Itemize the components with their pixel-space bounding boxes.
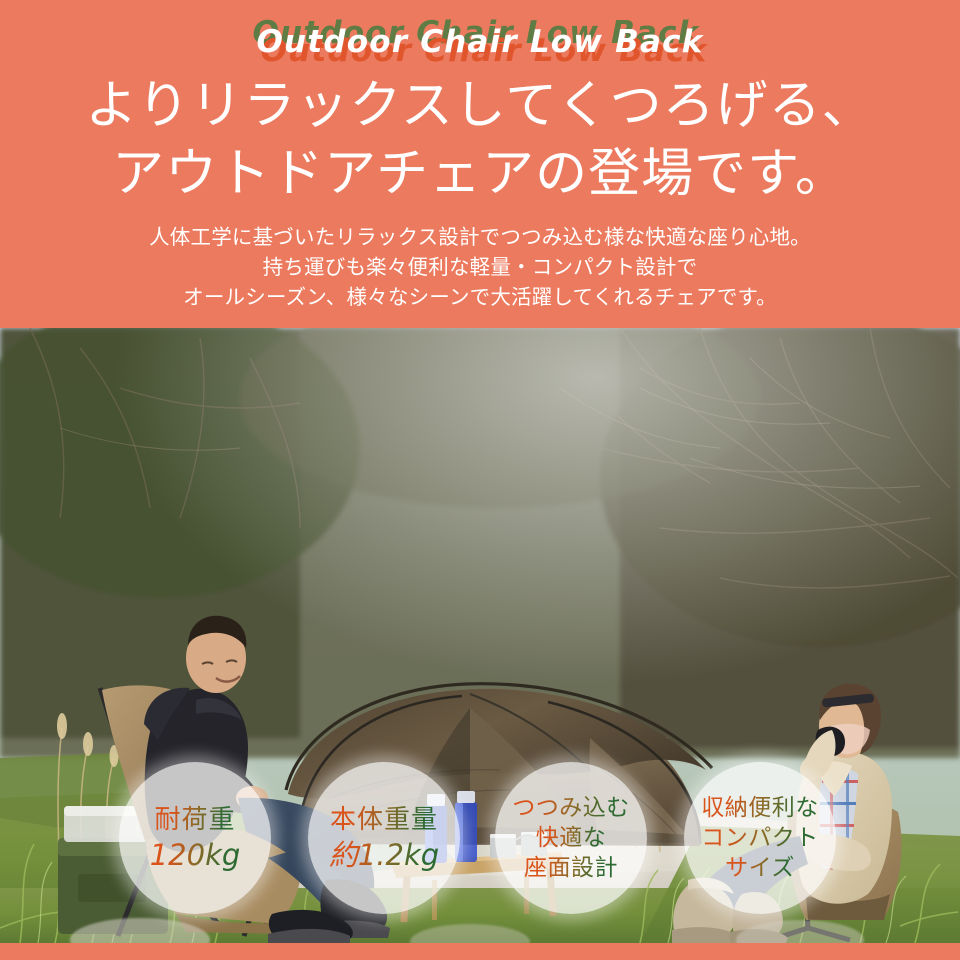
english-title-text: Outdoor Chair Low Back: [0, 22, 960, 62]
feature-line: 約1.2kg: [329, 837, 439, 873]
japanese-headline: よりリラックスしてくつろげる、 アウトドアチェアの登場です。: [0, 72, 960, 208]
feature-line: コンパクト: [701, 823, 819, 853]
header-banner: Outdoor Chair Low Back Outdoor Chair Low…: [0, 0, 960, 328]
headline-line-2: アウトドアチェアの登場です。: [0, 140, 960, 208]
headline-line-1: よりリラックスしてくつろげる、: [0, 72, 960, 140]
feature-load-capacity[interactable]: 耐荷重 120kg: [119, 762, 271, 914]
feature-line: サイズ: [725, 853, 795, 883]
feature-comfortable-seat-design[interactable]: つつみ込む 快適な 座面設計: [495, 762, 647, 914]
english-title: Outdoor Chair Low Back Outdoor Chair Low…: [0, 22, 960, 68]
footer-band: [0, 943, 960, 960]
feature-line: 120kg: [150, 837, 241, 873]
caption-line-3: オールシーズン、様々なシーンで大活躍してくれるチェアです。: [0, 282, 960, 312]
product-banner-page: Outdoor Chair Low Back Outdoor Chair Low…: [0, 0, 960, 960]
feature-line: 本体重量: [330, 804, 438, 837]
feature-line: 耐荷重: [154, 804, 235, 837]
caption-line-1: 人体工学に基づいたリラックス設計でつつみ込む様な快適な座り心地。: [0, 222, 960, 252]
caption-line-2: 持ち運びも楽々便利な軽量・コンパクト設計で: [0, 252, 960, 282]
feature-compact-storage-size[interactable]: 収納便利な コンパクト サイズ: [684, 762, 836, 914]
feature-product-weight[interactable]: 本体重量 約1.2kg: [308, 762, 460, 914]
japanese-caption: 人体工学に基づいたリラックス設計でつつみ込む様な快適な座り心地。 持ち運びも楽々…: [0, 222, 960, 312]
feature-line: 収納便利な: [701, 793, 819, 823]
feature-line: 座面設計: [524, 853, 618, 883]
feature-line: 快適な: [536, 823, 607, 853]
feature-line: つつみ込む: [512, 793, 630, 823]
